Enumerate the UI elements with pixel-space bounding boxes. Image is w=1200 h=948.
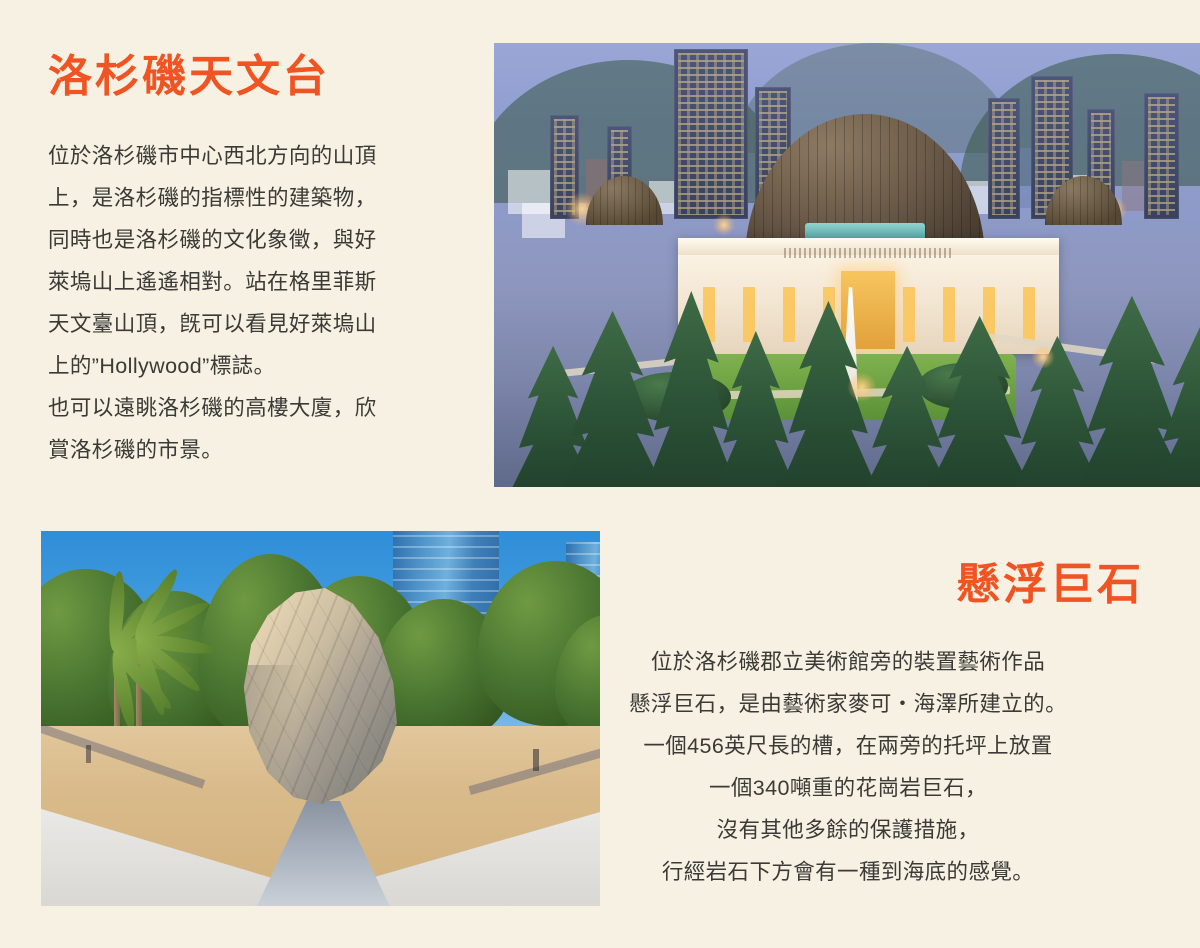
levitated-mass-line: 行經岩石下方會有一種到海底的感覺。 — [538, 851, 1158, 893]
section-levitated-mass: 懸浮巨石 位於洛杉磯郡立美術館旁的裝置藝術作品 懸浮巨石，是由藝術家麥可・海澤所… — [0, 0, 1200, 948]
levitated-mass-text-block: 懸浮巨石 位於洛杉磯郡立美術館旁的裝置藝術作品 懸浮巨石，是由藝術家麥可・海澤所… — [538, 560, 1158, 893]
levitated-mass-line: 懸浮巨石，是由藝術家麥可・海澤所建立的。 — [538, 683, 1158, 725]
levitated-mass-photo — [41, 531, 600, 906]
levitated-mass-description: 位於洛杉磯郡立美術館旁的裝置藝術作品 懸浮巨石，是由藝術家麥可・海澤所建立的。 … — [538, 641, 1158, 893]
levitated-mass-line: 一個456英尺長的槽，在兩旁的托坪上放置 — [538, 725, 1158, 767]
levitated-mass-line: 沒有其他多餘的保護措施， — [538, 809, 1158, 851]
levitated-mass-line: 位於洛杉磯郡立美術館旁的裝置藝術作品 — [538, 641, 1158, 683]
levitated-mass-line: 一個340噸重的花崗岩巨石， — [538, 767, 1158, 809]
levitated-mass-title: 懸浮巨石 — [538, 560, 1158, 609]
